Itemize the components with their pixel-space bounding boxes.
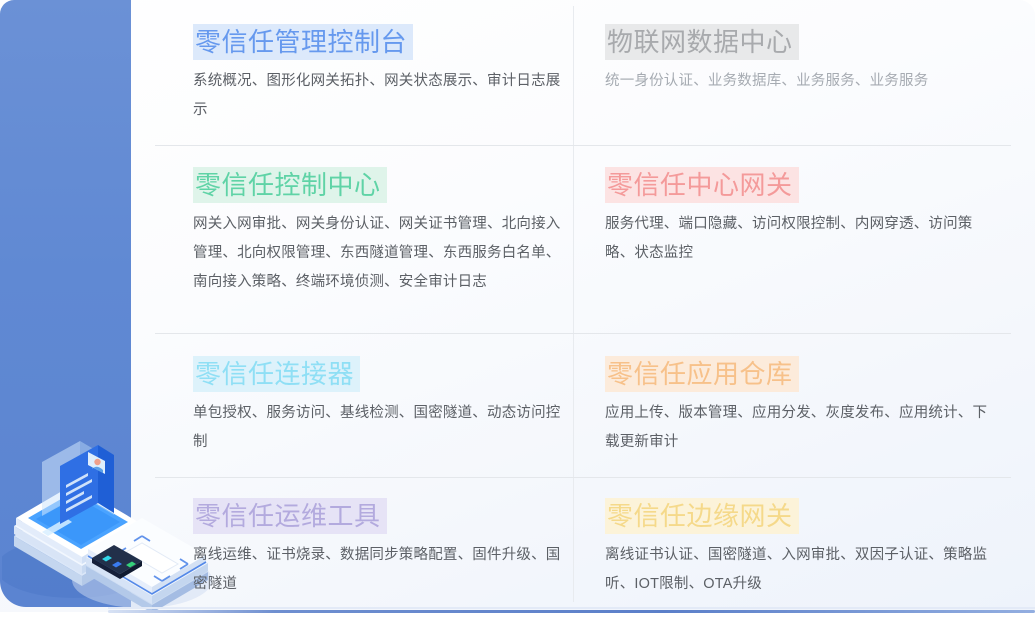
card-bottom-rule-light <box>108 607 1035 609</box>
feature-description: 服务代理、端口隐藏、访问权限控制、内网穿透、访问策略、状态监控 <box>605 210 997 268</box>
feature-title: 物联网数据中心 <box>605 24 799 60</box>
feature-card: 零信任管理控制台 系统概况、图形化网关拓扑、网关状态展示、审计日志展示 物联网数… <box>0 0 1035 612</box>
row-divider-3 <box>155 477 1011 478</box>
feature-cell-zero-trust-management-console[interactable]: 零信任管理控制台 系统概况、图形化网关拓扑、网关状态展示、审计日志展示 <box>193 24 573 125</box>
feature-description: 统一身份认证、业务数据库、业务服务、业务服务 <box>605 67 997 96</box>
feature-title: 零信任管理控制台 <box>193 24 413 60</box>
feature-cell-zero-trust-ops-tools[interactable]: 零信任运维工具 离线运维、证书烧录、数据同步策略配置、固件升级、国密隧道 <box>193 498 573 599</box>
feature-title: 零信任边缘网关 <box>605 498 799 534</box>
feature-cell-zero-trust-connector[interactable]: 零信任连接器 单包授权、服务访问、基线检测、国密隧道、动态访问控制 <box>193 356 573 457</box>
row-divider-2 <box>155 333 1011 334</box>
feature-description: 系统概况、图形化网关拓扑、网关状态展示、审计日志展示 <box>193 67 565 125</box>
feature-title: 零信任中心网关 <box>605 167 799 203</box>
feature-cell-zero-trust-control-center[interactable]: 零信任控制中心 网关入网审批、网关身份认证、网关证书管理、北向接入管理、北向权限… <box>193 167 573 297</box>
column-divider <box>573 6 574 602</box>
card-bottom-rule <box>108 610 1035 613</box>
feature-description: 离线运维、证书烧录、数据同步策略配置、固件升级、国密隧道 <box>193 541 565 599</box>
feature-description: 应用上传、版本管理、应用分发、灰度发布、应用统计、下载更新审计 <box>605 399 997 457</box>
feature-title: 零信任应用仓库 <box>605 356 799 392</box>
feature-title: 零信任控制中心 <box>193 167 387 203</box>
screenshot-root: 零信任管理控制台 系统概况、图形化网关拓扑、网关状态展示、审计日志展示 物联网数… <box>0 0 1035 622</box>
feature-cell-zero-trust-center-gateway[interactable]: 零信任中心网关 服务代理、端口隐藏、访问权限控制、内网穿透、访问策略、状态监控 <box>605 167 1005 268</box>
feature-description: 网关入网审批、网关身份认证、网关证书管理、北向接入管理、北向权限管理、东西隧道管… <box>193 210 565 297</box>
feature-cell-zero-trust-edge-gateway[interactable]: 零信任边缘网关 离线证书认证、国密隧道、入网审批、双因子认证、策略监听、IOT限… <box>605 498 1015 599</box>
feature-cell-zero-trust-app-repository[interactable]: 零信任应用仓库 应用上传、版本管理、应用分发、灰度发布、应用统计、下载更新审计 <box>605 356 1005 457</box>
feature-cell-iot-data-center[interactable]: 物联网数据中心 统一身份认证、业务数据库、业务服务、业务服务 <box>605 24 1005 96</box>
feature-title: 零信任连接器 <box>193 356 360 392</box>
feature-description: 单包授权、服务访问、基线检测、国密隧道、动态访问控制 <box>193 399 565 457</box>
row-divider-1 <box>155 145 1011 146</box>
feature-description: 离线证书认证、国密隧道、入网审批、双因子认证、策略监听、IOT限制、OTA升级 <box>605 541 997 599</box>
feature-title: 零信任运维工具 <box>193 498 387 534</box>
feature-grid: 零信任管理控制台 系统概况、图形化网关拓扑、网关状态展示、审计日志展示 物联网数… <box>131 0 1035 607</box>
